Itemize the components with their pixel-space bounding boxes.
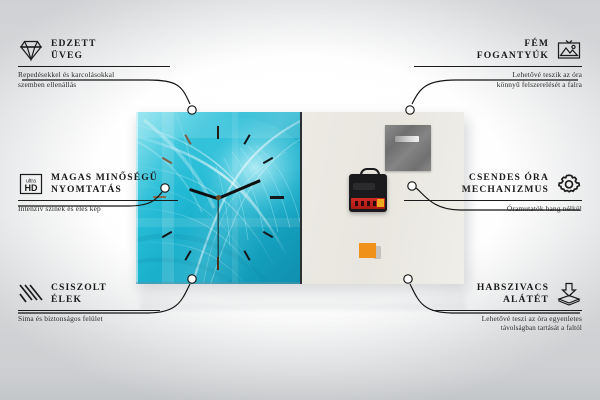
diamond-icon xyxy=(18,38,44,62)
feature-header: CSISZOLT ÉLEK xyxy=(18,282,176,307)
battery-plus-terminal xyxy=(377,199,384,207)
feature-title: MAGAS MINŐSÉGŰ NYOMTATÁS xyxy=(51,172,158,197)
feature-silent-mechanism: CSENDES ÓRA MECHANIZMUS Óramutatók hang … xyxy=(404,172,582,214)
gear-icon xyxy=(556,172,582,196)
feature-title: HABSZIVACS ALÁTÉT xyxy=(477,282,549,307)
mechanism-body-detail xyxy=(353,183,375,190)
feature-underline xyxy=(18,310,160,311)
battery-compartment xyxy=(351,198,385,209)
mechanism-hook xyxy=(360,168,380,180)
clock-mechanism xyxy=(349,174,387,212)
feature-title: CSENDES ÓRA MECHANIZMUS xyxy=(462,172,549,197)
feature-polished-edges: CSISZOLT ÉLEK Sima és biztonságos felüle… xyxy=(18,282,176,324)
clock-tick-6 xyxy=(217,257,219,270)
feature-desc-1: Intenzív színek és éles kép xyxy=(18,204,194,214)
metal-hanger-plate xyxy=(385,125,431,171)
feature-underline xyxy=(18,66,170,67)
infographic-canvas: EDZETT ÜVEG Repedésekkel és karcolásokka… xyxy=(0,0,600,400)
feature-underline xyxy=(432,310,582,311)
feature-desc-2: szemben ellenállás xyxy=(18,80,186,90)
hanger-slot xyxy=(395,136,419,142)
feature-desc-1: Sima és biztonságos felület xyxy=(18,314,176,324)
feature-title: EDZETT ÜVEG xyxy=(51,38,97,63)
feature-underline xyxy=(18,200,178,201)
feature-header: ultra HD MAGAS MINŐSÉGŰ NYOMTATÁS xyxy=(18,172,194,197)
feature-desc-1: Repedésekkel és karcolásokkal xyxy=(18,70,186,80)
polished-edges-icon xyxy=(18,282,44,306)
feature-desc-1: Lehetővé teszik az óra xyxy=(414,70,582,80)
svg-text:HD: HD xyxy=(25,183,38,193)
feature-metal-handles: FÉM FOGANTYÚK Lehetővé teszik az óra kön… xyxy=(414,38,582,90)
feature-tempered-glass: EDZETT ÜVEG Repedésekkel és karcolásokka… xyxy=(18,38,186,90)
feature-title: FÉM FOGANTYÚK xyxy=(477,38,549,63)
feature-high-quality-print: ultra HD MAGAS MINŐSÉGŰ NYOMTATÁS Intenz… xyxy=(18,172,194,214)
feature-desc-2: távolságban tartását a faltól xyxy=(432,324,582,334)
ultra-hd-icon: ultra HD xyxy=(18,172,44,196)
feature-underline xyxy=(404,200,582,201)
clock-tick-3 xyxy=(270,196,284,199)
feature-header: CSENDES ÓRA MECHANIZMUS xyxy=(404,172,582,197)
foam-pad-icon xyxy=(556,282,582,306)
feature-foam-backing: HABSZIVACS ALÁTÉT Lehetővé teszi az óra … xyxy=(432,282,582,334)
clock-tick-12 xyxy=(217,126,219,139)
feature-desc-2: könnyű felszerelését a falra xyxy=(414,80,582,90)
feature-desc-1: Lehetővé teszi az óra egyenletes xyxy=(432,314,582,324)
feature-desc-1: Óramutatók hang nélkül xyxy=(404,204,582,214)
clock-center-pin xyxy=(216,195,221,200)
picture-frame-icon xyxy=(556,38,582,62)
feature-underline xyxy=(414,66,582,67)
foam-pad xyxy=(359,243,376,258)
feature-header: EDZETT ÜVEG xyxy=(18,38,186,63)
feature-header: FÉM FOGANTYÚK xyxy=(414,38,582,63)
second-hand xyxy=(217,198,218,258)
feature-title: CSISZOLT ÉLEK xyxy=(51,282,107,307)
feature-header: HABSZIVACS ALÁTÉT xyxy=(432,282,582,307)
